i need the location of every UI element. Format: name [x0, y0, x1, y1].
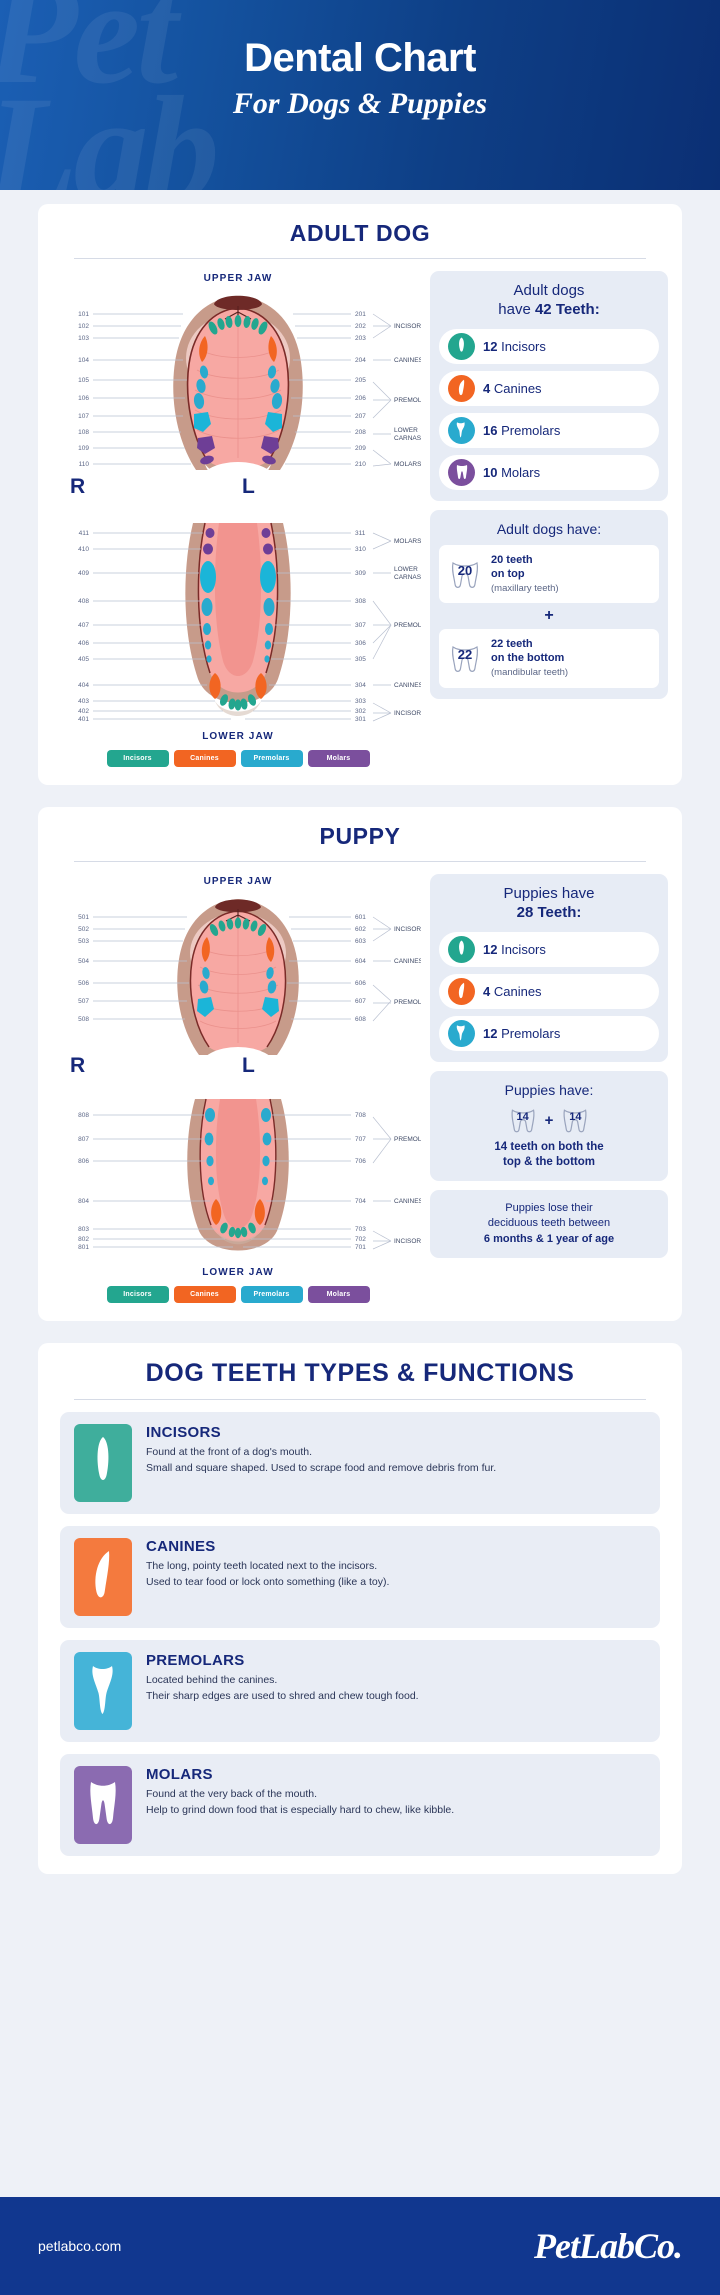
- stat-text: 4 Canines: [483, 984, 542, 999]
- svg-text:210: 210: [355, 461, 366, 468]
- svg-text:403: 403: [78, 698, 89, 705]
- svg-text:CARNASSIAL: CARNASSIAL: [394, 435, 421, 442]
- incisor-tooth-icon: [448, 333, 475, 360]
- page-header: Pet Lab Dental Chart For Dogs & Puppies: [0, 0, 720, 190]
- svg-text:701: 701: [355, 1244, 366, 1251]
- svg-text:311: 311: [355, 530, 366, 537]
- svg-text:204: 204: [355, 357, 366, 364]
- legend-chip-incisors: Incisors: [107, 1286, 169, 1303]
- stat-row-premolars: 12 Premolars: [439, 1016, 659, 1051]
- svg-text:706: 706: [355, 1158, 366, 1165]
- puppy-lower-jaw-diagram: 808807806 804803802801 708707706 7047037…: [55, 1095, 421, 1263]
- svg-text:801: 801: [78, 1244, 89, 1251]
- adult-color-legend: Incisors Canines Premolars Molars: [52, 750, 424, 767]
- svg-text:207: 207: [355, 413, 366, 420]
- legend-chip-canines: Canines: [174, 1286, 236, 1303]
- types-title: DOG TEETH TYPES & FUNCTIONS: [52, 1359, 668, 1399]
- tooth-count-top: 20: [448, 557, 482, 591]
- svg-text:410: 410: [78, 546, 89, 553]
- svg-text:703: 703: [355, 1226, 366, 1233]
- page-title: Dental Chart: [0, 0, 720, 81]
- svg-text:101: 101: [78, 311, 89, 318]
- adult-bottom-teeth-row: 22 22 teeth on the bottom (mandibular te…: [439, 629, 659, 687]
- stat-text: 12 Incisors: [483, 339, 546, 354]
- svg-text:107: 107: [78, 413, 89, 420]
- divider: [74, 1399, 646, 1400]
- svg-text:608: 608: [355, 1016, 366, 1023]
- type-row-incisors: INCISORS Found at the front of a dog's m…: [60, 1412, 660, 1514]
- puppy-color-legend: Incisors Canines Premolars Molars: [52, 1286, 424, 1303]
- incisor-tooth-icon: [448, 936, 475, 963]
- svg-text:504: 504: [78, 958, 89, 965]
- svg-text:MOLARS: MOLARS: [394, 461, 421, 468]
- legend-chip-premolars: Premolars: [241, 750, 303, 767]
- puppy-teeth-count-panel: Puppies have 28 Teeth: 12 Incisors 4 C: [430, 874, 668, 1062]
- svg-text:CANINES: CANINES: [394, 1198, 421, 1205]
- page-subtitle: For Dogs & Puppies: [0, 81, 720, 121]
- svg-text:INCISORS: INCISORS: [394, 323, 421, 330]
- svg-text:406: 406: [78, 640, 89, 647]
- svg-text:209: 209: [355, 445, 366, 452]
- svg-text:604: 604: [355, 958, 366, 965]
- type-row-premolars: PREMOLARS Located behind the canines. Th…: [60, 1640, 660, 1742]
- stat-row-molars: 10 Molars: [439, 455, 659, 490]
- adult-upper-jaw-diagram: 101102103 104105106 107108 109110 201202…: [55, 288, 421, 493]
- legend-chip-premolars: Premolars: [241, 1286, 303, 1303]
- legend-chip-canines: Canines: [174, 750, 236, 767]
- teeth-types-card: DOG TEETH TYPES & FUNCTIONS INCISORS Fou…: [38, 1343, 682, 1874]
- svg-text:205: 205: [355, 377, 366, 384]
- molar-tooth-icon: [74, 1766, 132, 1844]
- tooth-count-bottom: 22: [448, 641, 482, 675]
- svg-text:606: 606: [355, 980, 366, 987]
- puppy-upper-jaw-diagram: 501502503 504506507508 601602603 6046066…: [55, 891, 421, 1071]
- svg-text:402: 402: [78, 708, 89, 715]
- svg-text:807: 807: [78, 1136, 89, 1143]
- canine-tooth-icon: [448, 978, 475, 1005]
- svg-text:203: 203: [355, 335, 366, 342]
- adult-top-teeth-row: 20 20 teeth on top (maxillary teeth): [439, 545, 659, 603]
- svg-text:506: 506: [78, 980, 89, 987]
- puppy-split-heading: Puppies have:: [439, 1082, 659, 1100]
- type-description: Found at the front of a dog's mouth. Sma…: [146, 1445, 496, 1477]
- adult-top-teeth-desc: 20 teeth on top (maxillary teeth): [491, 553, 559, 595]
- svg-text:309: 309: [355, 570, 366, 577]
- svg-text:PREMOLARS: PREMOLARS: [394, 622, 421, 629]
- puppy-note-text: Puppies lose their deciduous teeth betwe…: [439, 1201, 659, 1247]
- type-row-canines: CANINES The long, pointy teeth located n…: [60, 1526, 660, 1628]
- svg-text:104: 104: [78, 357, 89, 364]
- type-row-molars: MOLARS Found at the very back of the mou…: [60, 1754, 660, 1856]
- svg-text:802: 802: [78, 1236, 89, 1243]
- stat-text: 4 Canines: [483, 381, 542, 396]
- puppy-upper-jaw-label: UPPER JAW: [52, 876, 424, 887]
- puppy-deciduous-note-panel: Puppies lose their deciduous teeth betwe…: [430, 1190, 668, 1258]
- svg-text:106: 106: [78, 395, 89, 402]
- svg-text:CANINES: CANINES: [394, 958, 421, 965]
- stat-row-incisors: 12 Incisors: [439, 932, 659, 967]
- svg-text:702: 702: [355, 1236, 366, 1243]
- svg-text:411: 411: [79, 530, 90, 537]
- plus-symbol: +: [545, 1112, 554, 1129]
- adult-upper-left-marker: L: [242, 475, 255, 499]
- svg-text:502: 502: [78, 926, 89, 933]
- adult-split-heading: Adult dogs have:: [439, 521, 659, 539]
- svg-text:105: 105: [78, 377, 89, 384]
- adult-lower-jaw-diagram: 411410409 408407406 405404 403402401 311…: [55, 519, 421, 727]
- stat-row-incisors: 12 Incisors: [439, 329, 659, 364]
- svg-text:110: 110: [79, 461, 90, 468]
- puppy-card: PUPPY UPPER JAW: [38, 807, 682, 1321]
- tooth-outline-icon: 14: [560, 1105, 590, 1135]
- svg-text:308: 308: [355, 598, 366, 605]
- svg-text:103: 103: [78, 335, 89, 342]
- svg-text:501: 501: [78, 914, 89, 921]
- type-name: INCISORS: [146, 1424, 496, 1441]
- footer-url[interactable]: petlabco.com: [38, 2238, 121, 2254]
- premolar-tooth-icon: [74, 1652, 132, 1730]
- tooth-outline-icon: 22: [448, 641, 482, 675]
- tooth-count-top: 14: [508, 1105, 538, 1135]
- puppy-count-heading: Puppies have 28 Teeth:: [439, 885, 659, 923]
- svg-text:607: 607: [355, 998, 366, 1005]
- svg-text:708: 708: [355, 1112, 366, 1119]
- svg-text:704: 704: [355, 1198, 366, 1205]
- infographic-page: Pet Lab Dental Chart For Dogs & Puppies …: [0, 0, 720, 2295]
- puppy-upper-left-marker: L: [242, 1054, 255, 1078]
- svg-text:108: 108: [78, 429, 89, 436]
- svg-text:401: 401: [78, 716, 89, 723]
- stat-row-premolars: 16 Premolars: [439, 413, 659, 448]
- svg-text:MOLARS: MOLARS: [394, 538, 421, 545]
- adult-bottom-teeth-desc: 22 teeth on the bottom (mandibular teeth…: [491, 637, 568, 679]
- molar-tooth-icon: [448, 459, 475, 486]
- legend-chip-incisors: Incisors: [107, 750, 169, 767]
- svg-text:CARNASSIAL: CARNASSIAL: [394, 574, 421, 581]
- adult-dog-card: ADULT DOG UPPER JAW: [38, 204, 682, 785]
- tooth-outline-icon: 20: [448, 557, 482, 591]
- svg-text:307: 307: [355, 622, 366, 629]
- svg-text:CANINES: CANINES: [394, 357, 421, 364]
- adult-upper-right-marker: R: [70, 475, 85, 499]
- stat-row-canines: 4 Canines: [439, 974, 659, 1009]
- legend-chip-molars: Molars: [308, 1286, 370, 1303]
- stat-row-canines: 4 Canines: [439, 371, 659, 406]
- puppy-lower-jaw-label: LOWER JAW: [52, 1267, 424, 1278]
- svg-text:603: 603: [355, 938, 366, 945]
- svg-text:109: 109: [78, 445, 89, 452]
- svg-text:206: 206: [355, 395, 366, 402]
- svg-text:201: 201: [355, 311, 366, 318]
- premolar-tooth-icon: [448, 417, 475, 444]
- divider: [74, 258, 646, 259]
- divider: [74, 861, 646, 862]
- svg-text:LOWER: LOWER: [394, 427, 418, 434]
- stat-text: 12 Incisors: [483, 942, 546, 957]
- incisor-tooth-icon: [74, 1424, 132, 1502]
- svg-text:PREMOLARS: PREMOLARS: [394, 397, 421, 404]
- stat-text: 10 Molars: [483, 465, 540, 480]
- svg-text:INCISORS: INCISORS: [394, 710, 421, 717]
- svg-text:306: 306: [355, 640, 366, 647]
- type-description: Found at the very back of the mouth. Hel…: [146, 1787, 454, 1819]
- adult-count-heading: Adult dogs have 42 Teeth:: [439, 282, 659, 320]
- svg-text:303: 303: [355, 698, 366, 705]
- puppy-split-icons: 14 + 14: [439, 1105, 659, 1135]
- tooth-count-bottom: 14: [560, 1105, 590, 1135]
- adult-jaw-split-panel: Adult dogs have: 20 20 teeth on top (max…: [430, 510, 668, 699]
- svg-text:PREMOLARS: PREMOLARS: [394, 999, 421, 1006]
- type-name: PREMOLARS: [146, 1652, 419, 1669]
- svg-text:302: 302: [355, 708, 366, 715]
- puppy-split-caption: 14 teeth on both the top & the bottom: [439, 1140, 659, 1170]
- type-description: The long, pointy teeth located next to t…: [146, 1559, 389, 1591]
- svg-text:LOWER: LOWER: [394, 566, 418, 573]
- adult-teeth-count-panel: Adult dogs have 42 Teeth: 12 Incisors: [430, 271, 668, 501]
- puppy-jaw-split-panel: Puppies have: 14 + 14 14 teeth on: [430, 1071, 668, 1181]
- svg-text:707: 707: [355, 1136, 366, 1143]
- type-name: CANINES: [146, 1538, 389, 1555]
- svg-text:404: 404: [78, 682, 89, 689]
- svg-text:304: 304: [355, 682, 366, 689]
- puppy-upper-right-marker: R: [70, 1054, 85, 1078]
- svg-text:507: 507: [78, 998, 89, 1005]
- canine-tooth-icon: [74, 1538, 132, 1616]
- puppy-card-title: PUPPY: [52, 823, 668, 861]
- svg-text:405: 405: [78, 656, 89, 663]
- stat-text: 12 Premolars: [483, 1026, 560, 1041]
- adult-lower-jaw-label: LOWER JAW: [52, 731, 424, 742]
- stat-text: 16 Premolars: [483, 423, 560, 438]
- svg-text:305: 305: [355, 656, 366, 663]
- type-description: Located behind the canines. Their sharp …: [146, 1673, 419, 1705]
- adult-card-title: ADULT DOG: [52, 220, 668, 258]
- svg-text:601: 601: [355, 914, 366, 921]
- svg-text:803: 803: [78, 1226, 89, 1233]
- svg-text:208: 208: [355, 429, 366, 436]
- svg-text:INCISORS: INCISORS: [394, 926, 421, 933]
- adult-upper-jaw-label: UPPER JAW: [52, 273, 424, 284]
- brand-logo: PetLabCo.: [534, 2225, 682, 2267]
- svg-text:602: 602: [355, 926, 366, 933]
- svg-text:804: 804: [78, 1198, 89, 1205]
- svg-text:808: 808: [78, 1112, 89, 1119]
- type-name: MOLARS: [146, 1766, 454, 1783]
- svg-text:CANINES: CANINES: [394, 682, 421, 689]
- legend-chip-molars: Molars: [308, 750, 370, 767]
- puppy-jaw-diagrams: UPPER JAW: [52, 874, 424, 1303]
- tooth-outline-icon: 14: [508, 1105, 538, 1135]
- svg-text:310: 310: [355, 546, 366, 553]
- svg-text:PREMOLARS: PREMOLARS: [394, 1136, 421, 1143]
- svg-text:508: 508: [78, 1016, 89, 1023]
- premolar-tooth-icon: [448, 1020, 475, 1047]
- svg-text:301: 301: [355, 716, 366, 723]
- svg-text:407: 407: [78, 622, 89, 629]
- plus-symbol: +: [439, 607, 659, 625]
- svg-text:102: 102: [78, 323, 89, 330]
- svg-text:408: 408: [78, 598, 89, 605]
- svg-text:503: 503: [78, 938, 89, 945]
- svg-text:409: 409: [78, 570, 89, 577]
- svg-text:806: 806: [78, 1158, 89, 1165]
- page-footer: petlabco.com PetLabCo.: [0, 2197, 720, 2295]
- canine-tooth-icon: [448, 375, 475, 402]
- adult-jaw-diagrams: UPPER JAW: [52, 271, 424, 767]
- svg-text:202: 202: [355, 323, 366, 330]
- svg-text:INCISORS: INCISORS: [394, 1238, 421, 1245]
